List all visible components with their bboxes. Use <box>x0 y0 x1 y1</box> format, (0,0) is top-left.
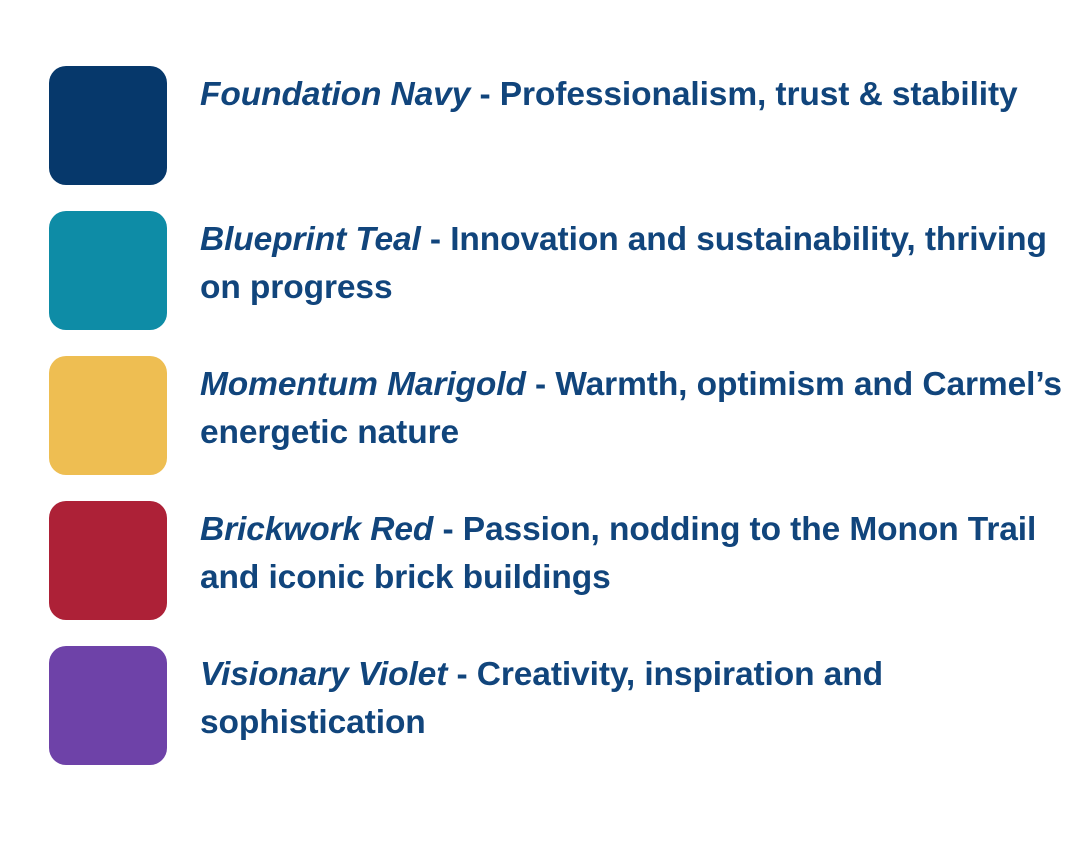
legend-item-text: Brickwork Red - Passion, nodding to the … <box>200 501 1069 602</box>
color-description-label: Professionalism, trust & stability <box>500 76 1018 113</box>
legend-item-text: Foundation Navy - Professionalism, trust… <box>200 66 1069 119</box>
color-swatch-icon <box>49 356 167 475</box>
legend-item-foundation-navy: Foundation Navy - Professionalism, trust… <box>49 66 1069 186</box>
legend-item-text: Blueprint Teal - Innovation and sustaina… <box>200 211 1069 312</box>
separator-dash: - <box>447 656 476 693</box>
separator-dash: - <box>421 221 450 258</box>
color-name-label: Blueprint Teal <box>200 221 421 258</box>
separator-dash: - <box>470 76 499 113</box>
color-name-label: Visionary Violet <box>200 656 447 693</box>
legend-item-blueprint-teal: Blueprint Teal - Innovation and sustaina… <box>49 211 1069 331</box>
legend-item-brickwork-red: Brickwork Red - Passion, nodding to the … <box>49 501 1069 621</box>
separator-dash: - <box>526 366 555 403</box>
color-swatch-icon <box>49 646 167 765</box>
color-name-label: Brickwork Red <box>200 511 433 548</box>
color-swatch-icon <box>49 66 167 185</box>
legend-item-visionary-violet: Visionary Violet - Creativity, inspirati… <box>49 646 1069 766</box>
separator-dash: - <box>433 511 462 548</box>
legend-item-text: Momentum Marigold - Warmth, optimism and… <box>200 356 1069 457</box>
legend-item-momentum-marigold: Momentum Marigold - Warmth, optimism and… <box>49 356 1069 476</box>
color-swatch-icon <box>49 501 167 620</box>
legend-item-text: Visionary Violet - Creativity, inspirati… <box>200 646 1069 747</box>
color-name-label: Momentum Marigold <box>200 366 526 403</box>
color-palette-legend: Foundation Navy - Professionalism, trust… <box>0 0 1080 868</box>
color-name-label: Foundation Navy <box>200 76 470 113</box>
color-swatch-icon <box>49 211 167 330</box>
